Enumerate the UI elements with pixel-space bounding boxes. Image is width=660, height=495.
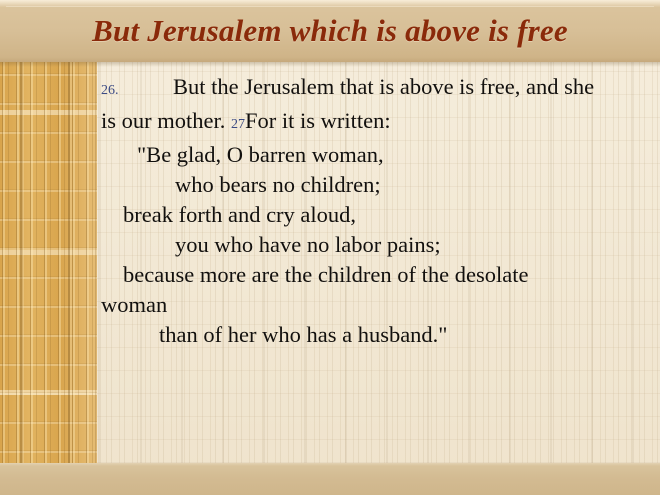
scripture-body: 26.But the Jerusalem that is above is fr… [101, 72, 653, 350]
verse-line-2-text-b: For it is written: [245, 108, 391, 133]
slide-title: But Jerusalem which is above is free [0, 0, 660, 62]
verse-line-1: 26.But the Jerusalem that is above is fr… [101, 72, 653, 106]
verse-line-2: is our mother. 27For it is written: [101, 106, 653, 140]
left-strip-edge-shadow [95, 62, 97, 463]
slide-canvas: But Jerusalem which is above is free 26.… [0, 0, 660, 495]
verse-line-4: who bears no children; [101, 170, 653, 200]
verse-line-2-text-a: is our mother. [101, 108, 231, 133]
bottom-band [0, 463, 660, 495]
verse-line-6: you who have no labor pains; [101, 230, 653, 260]
verse-number-27: 27 [231, 117, 245, 132]
verse-line-5: break forth and cry aloud, [101, 200, 653, 230]
verse-line-9: than of her who has a husband." [101, 320, 653, 350]
left-woven-texture-strip [0, 62, 97, 463]
verse-number-26: 26. [101, 76, 147, 106]
verse-line-7: because more are the children of the des… [101, 260, 653, 290]
verse-line-3: "Be glad, O barren woman, [101, 140, 653, 170]
verse-line-1-text: But the Jerusalem that is above is free,… [173, 74, 594, 99]
verse-line-8: woman [101, 290, 653, 320]
